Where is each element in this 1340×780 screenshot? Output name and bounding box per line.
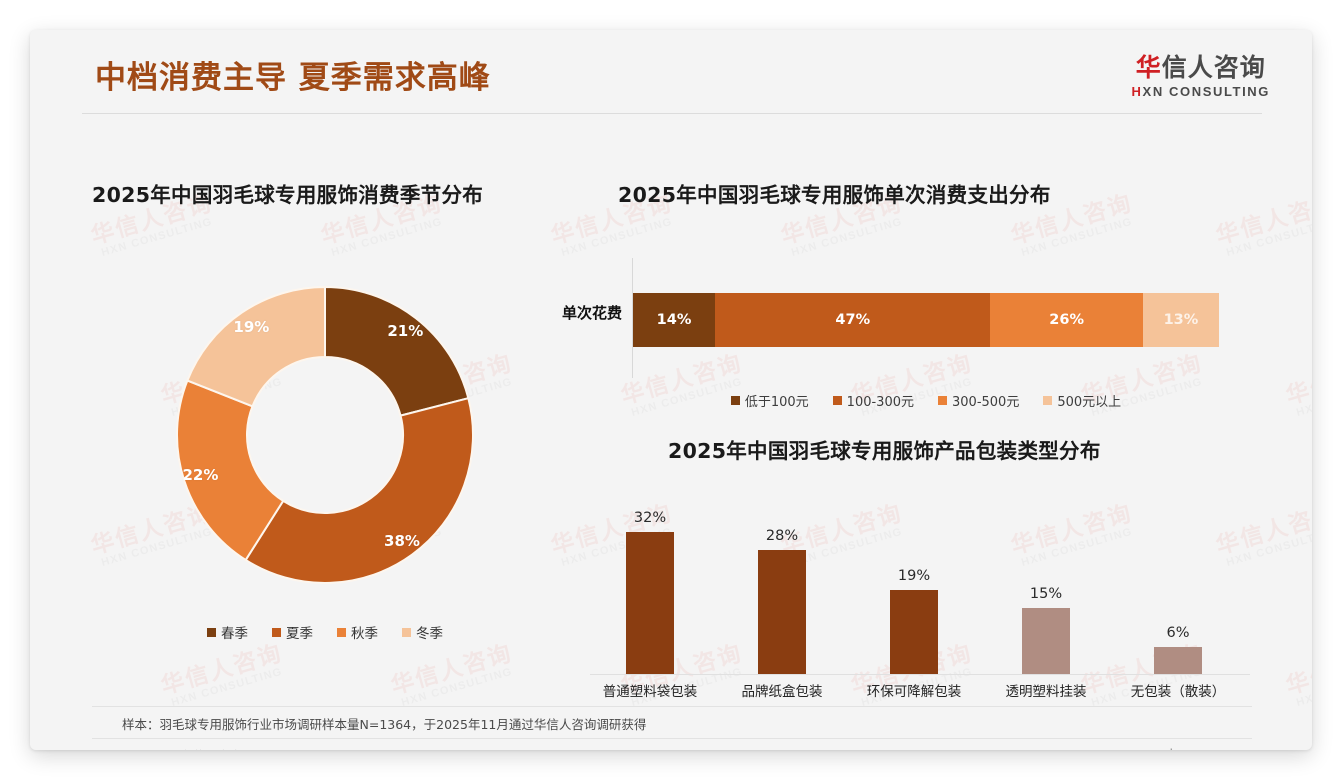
column-x-label: 无包装（散装） bbox=[1131, 680, 1226, 700]
column-bar-value-label: 28% bbox=[766, 528, 798, 544]
legend-label: 300-500元 bbox=[952, 391, 1019, 410]
legend-label: 100-300元 bbox=[847, 391, 914, 410]
legend-swatch bbox=[938, 396, 947, 405]
legend-label: 低于100元 bbox=[745, 391, 809, 410]
page-title: 中档消费主导 夏季需求高峰 bbox=[95, 52, 491, 97]
stacked-bar-segment[interactable]: 14% bbox=[633, 293, 715, 347]
donut-segment[interactable] bbox=[246, 398, 473, 583]
donut-segment-label: 22% bbox=[182, 466, 218, 484]
donut-segment-label: 38% bbox=[384, 532, 420, 550]
stacked-bar-segment[interactable]: 47% bbox=[715, 293, 990, 347]
footer-website: www.hxrcon.com bbox=[1137, 747, 1240, 750]
legend-label: 夏季 bbox=[286, 622, 313, 642]
legend-item-spend[interactable]: 300-500元 bbox=[938, 391, 1019, 410]
legend-item-spend[interactable]: 100-300元 bbox=[833, 391, 914, 410]
legend-item-season[interactable]: 春季 bbox=[207, 622, 248, 642]
column-bar[interactable] bbox=[1022, 608, 1070, 674]
legend-item-season[interactable]: 夏季 bbox=[272, 622, 313, 642]
column-bar-group: 28% bbox=[758, 550, 806, 674]
logo-en-dark: XN CONSULTING bbox=[1143, 84, 1270, 99]
slide-content: 2025年中国羽毛球专用服饰消费季节分布 2025年中国羽毛球专用服饰单次消费支… bbox=[30, 30, 1312, 750]
column-bar[interactable] bbox=[626, 532, 674, 674]
legend-label: 春季 bbox=[221, 622, 248, 642]
legend-swatch bbox=[207, 628, 216, 637]
legend-item-season[interactable]: 秋季 bbox=[337, 622, 378, 642]
donut-svg bbox=[160, 270, 490, 600]
column-bar-value-label: 15% bbox=[1030, 586, 1062, 602]
company-logo: 华信人咨询 HXN CONSULTING bbox=[1132, 54, 1270, 99]
legend-item-spend[interactable]: 500元以上 bbox=[1043, 391, 1121, 410]
legend-swatch bbox=[833, 396, 842, 405]
chart-title-packaging: 2025年中国羽毛球专用服饰产品包装类型分布 bbox=[668, 434, 1101, 464]
legend-swatch bbox=[337, 628, 346, 637]
legend-item-season[interactable]: 冬季 bbox=[402, 622, 443, 642]
column-bar-group: 32% bbox=[626, 532, 674, 674]
stacked-bar-track: 14%47%26%13% bbox=[633, 293, 1219, 347]
logo-chinese: 华信人咨询 bbox=[1132, 54, 1270, 82]
season-legend: 春季夏季秋季冬季 bbox=[160, 622, 490, 642]
footnote-divider bbox=[92, 706, 1252, 707]
chart-title-spend: 2025年中国羽毛球专用服饰单次消费支出分布 bbox=[618, 178, 1051, 208]
spend-legend: 低于100元100-300元300-500元500元以上 bbox=[633, 391, 1219, 410]
chart-title-season: 2025年中国羽毛球专用服饰消费季节分布 bbox=[92, 178, 483, 208]
column-bar-value-label: 19% bbox=[898, 568, 930, 584]
legend-swatch bbox=[402, 628, 411, 637]
header-divider bbox=[82, 113, 1262, 114]
legend-label: 秋季 bbox=[351, 622, 378, 642]
column-bar-group: 15% bbox=[1022, 608, 1070, 674]
logo-english: HXN CONSULTING bbox=[1132, 84, 1270, 99]
column-x-label: 环保可降解包装 bbox=[867, 680, 962, 700]
column-chart-x-labels: 普通塑料袋包装品牌纸盒包装环保可降解包装透明塑料挂装无包装（散装） bbox=[590, 680, 1250, 704]
stacked-bar-row-label: 单次花费 bbox=[502, 302, 622, 323]
column-x-label: 透明塑料挂装 bbox=[1006, 680, 1087, 700]
column-bar[interactable] bbox=[758, 550, 806, 674]
footer-divider bbox=[92, 738, 1252, 739]
column-bar-group: 19% bbox=[890, 590, 938, 674]
footer-copyright: ©2026.1 HXR华信人咨询 bbox=[98, 747, 241, 750]
donut-segment[interactable] bbox=[325, 287, 468, 416]
legend-label: 500元以上 bbox=[1057, 391, 1121, 410]
column-bar-group: 6% bbox=[1154, 647, 1202, 674]
column-chart-baseline bbox=[590, 674, 1250, 675]
packaging-column-chart: 32%28%19%15%6% bbox=[590, 500, 1250, 675]
legend-swatch bbox=[1043, 396, 1052, 405]
slide-canvas: 华信人咨询HXN CONSULTING华信人咨询HXN CONSULTING华信… bbox=[30, 30, 1312, 750]
column-x-label: 普通塑料袋包装 bbox=[603, 680, 698, 700]
column-bar[interactable] bbox=[890, 590, 938, 674]
legend-swatch bbox=[272, 628, 281, 637]
footnote-text: 样本：羽毛球专用服饰行业市场调研样本量N=1364，于2025年11月通过华信人… bbox=[122, 714, 646, 733]
season-donut-chart: 21%38%22%19% bbox=[160, 270, 490, 600]
column-x-label: 品牌纸盒包装 bbox=[742, 680, 823, 700]
logo-cn-dark: 信人咨询 bbox=[1162, 53, 1266, 82]
stacked-bar-segment[interactable]: 26% bbox=[990, 293, 1142, 347]
legend-swatch bbox=[731, 396, 740, 405]
donut-segment-label: 19% bbox=[233, 318, 269, 336]
column-bar[interactable] bbox=[1154, 647, 1202, 674]
logo-cn-red: 华 bbox=[1136, 53, 1162, 82]
legend-label: 冬季 bbox=[416, 622, 443, 642]
column-bar-value-label: 6% bbox=[1166, 625, 1189, 641]
stacked-bar-segment[interactable]: 13% bbox=[1143, 293, 1219, 347]
donut-segment-label: 21% bbox=[387, 322, 423, 340]
legend-item-spend[interactable]: 低于100元 bbox=[731, 391, 809, 410]
logo-en-red: H bbox=[1132, 84, 1143, 99]
donut-segment[interactable] bbox=[187, 287, 325, 406]
slide-header: 中档消费主导 夏季需求高峰 华信人咨询 HXN CONSULTING bbox=[30, 30, 1312, 120]
column-bar-value-label: 32% bbox=[634, 510, 666, 526]
